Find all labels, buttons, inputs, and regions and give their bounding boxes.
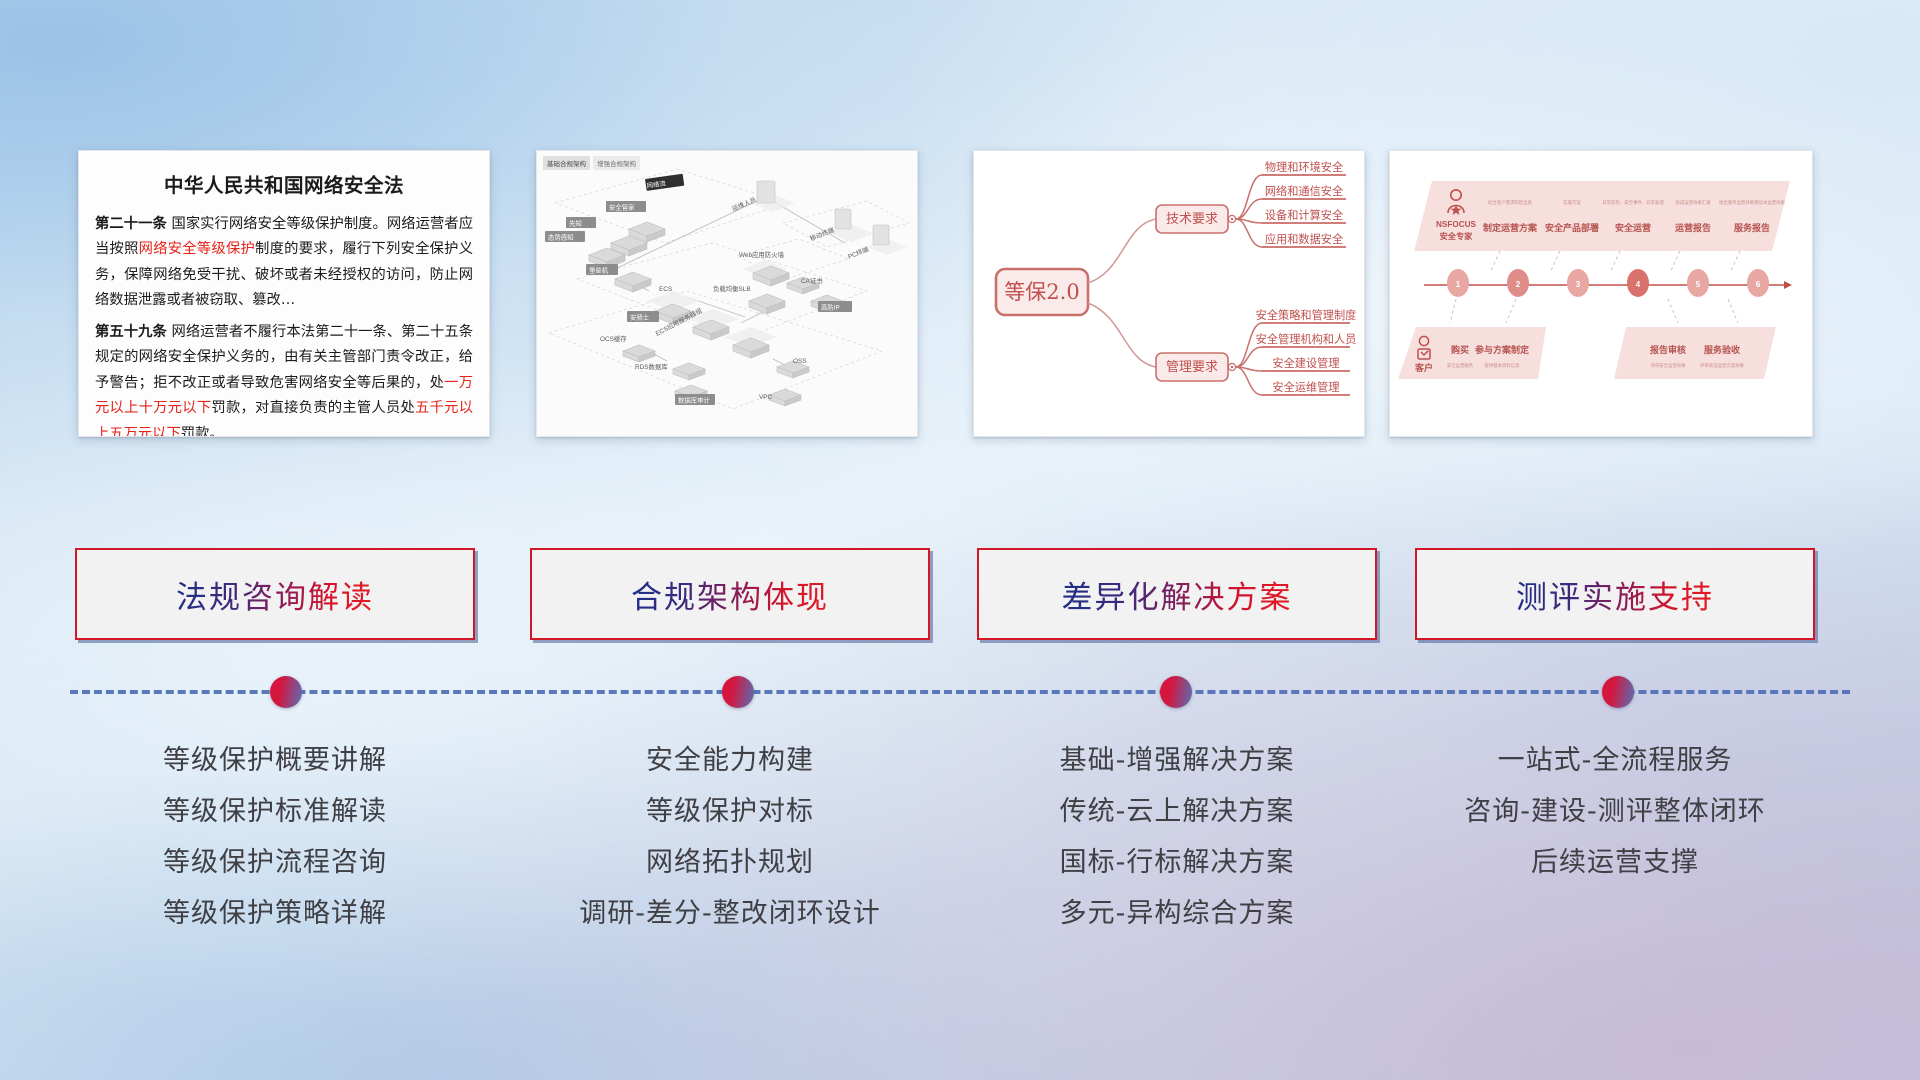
timeline-dot-1[interactable] <box>270 676 302 708</box>
card-service-roadmap[interactable]: NSFOCUS 安全专家 结合客户需求制定出具 制定运营方案 实施方案 安全产品… <box>1389 150 1813 437</box>
roadmap-bottom-title-4: 服务验收 <box>1704 344 1740 355</box>
roadmap-bottom-title-3: 报告审核 <box>1650 344 1686 355</box>
architecture-diagram: 基础合规架构 增强合规架构 <box>537 151 917 436</box>
article-59-number: 第五十九条 <box>95 324 167 340</box>
mindmap-leaf-mgmt-1: 安全策略和管理制度 <box>1256 308 1357 322</box>
svg-text:运维人员: 运维人员 <box>730 195 757 213</box>
card-mindmap-dengbao[interactable]: 等保2.0 技术要求 <box>973 150 1365 437</box>
svg-text:高防IP: 高防IP <box>821 303 840 312</box>
law-article-21: 第二十一条 国家实行网络安全等级保护制度。网络运营者应当按照网络安全等级保护制度… <box>95 212 473 314</box>
roadmap-step-numbers: 1 2 3 4 5 6 <box>1447 269 1769 297</box>
roadmap-brand-line1: NSFOCUS <box>1436 220 1477 229</box>
roadmap-num-2: 2 <box>1516 280 1521 289</box>
list-item: 一站式-全流程服务 <box>1415 735 1815 786</box>
card-compliance-architecture[interactable]: 基础合规架构 增强合规架构 <box>536 150 918 437</box>
svg-text:OSS: OSS <box>793 358 807 365</box>
detail-list-compliance-architecture: 安全能力构建 等级保护对标 网络拓扑规划 调研-差分-整改闭环设计 <box>530 735 930 939</box>
mindmap-branch-mgmt-label: 管理要求 <box>1166 360 1218 375</box>
list-item: 多元-异构综合方案 <box>977 888 1377 939</box>
roadmap-bottom-title-2: 参与方案制定 <box>1475 344 1530 355</box>
mindmap-root-label: 等保2.0 <box>1004 280 1079 304</box>
mindmap-leaf-mgmt-3: 安全建设管理 <box>1272 356 1339 370</box>
roadmap-top-sub-1: 结合客户需求制定出具 <box>1488 199 1533 206</box>
roadmap-bottom-banner-right <box>1614 327 1776 379</box>
section-heading-row: 法规咨询解读 合规架构体现 差异化解决方案 测评实施支持 <box>0 548 1920 644</box>
timeline-dot-2[interactable] <box>722 676 754 708</box>
svg-text:PC终端: PC终端 <box>846 244 870 261</box>
section-heading-label: 合规架构体现 <box>631 572 829 617</box>
mindmap: 等保2.0 技术要求 <box>974 151 1364 436</box>
mindmap-leaf-tech-1: 物理和环境安全 <box>1265 160 1343 174</box>
mindmap-leaf-tech-4: 应用和数据安全 <box>1265 232 1343 246</box>
roadmap-top-sub-2: 实施方案 <box>1563 199 1581 206</box>
roadmap-brand-line2: 安全专家 <box>1440 231 1474 241</box>
service-roadmap: NSFOCUS 安全专家 结合客户需求制定出具 制定运营方案 实施方案 安全产品… <box>1390 151 1812 436</box>
list-item: 安全能力构建 <box>530 735 930 786</box>
svg-text:ECS: ECS <box>659 286 672 293</box>
svg-text:CA证书: CA证书 <box>801 276 823 285</box>
architecture-canvas: 网络流 安全管家 先知 态势感知 堡垒机 安骑士 数据库审计 <box>537 151 917 436</box>
mindmap-branch-tech-label: 技术要求 <box>1166 212 1218 227</box>
list-item: 国标-行标解决方案 <box>977 837 1377 888</box>
detail-list-regulation-consulting: 等级保护概要讲解 等级保护标准解读 等级保护流程咨询 等级保护策略详解 <box>75 735 475 939</box>
roadmap-top-sub-3: 日常巡检、安全事件、异常处理 <box>1602 199 1664 206</box>
svg-text:先知: 先知 <box>569 219 582 228</box>
timeline <box>70 690 1850 694</box>
svg-text:数据库审计: 数据库审计 <box>678 396 711 405</box>
roadmap-arrow-head <box>1784 281 1792 289</box>
image-card-row: 中华人民共和国网络安全法 第二十一条 国家实行网络安全等级保护制度。网络运营者应… <box>0 150 1920 440</box>
timeline-dashed-line <box>70 690 1850 694</box>
svg-text:Web应用防火墙: Web应用防火墙 <box>739 250 785 259</box>
roadmap-num-1: 1 <box>1456 280 1461 289</box>
svg-text:RDS数据库: RDS数据库 <box>635 362 668 371</box>
mindmap-leaf-mgmt-4: 安全运维管理 <box>1272 380 1339 394</box>
list-item: 等级保护对标 <box>530 786 930 837</box>
section-heading-label: 差异化解决方案 <box>1062 572 1293 617</box>
roadmap-top-title-4: 运营报告 <box>1675 222 1711 233</box>
roadmap-top-title-1: 制定运营方案 <box>1483 222 1538 233</box>
roadmap-num-4: 4 <box>1636 280 1641 289</box>
law-document: 中华人民共和国网络安全法 第二十一条 国家实行网络安全等级保护制度。网络运营者应… <box>79 151 489 436</box>
svg-text:堡垒机: 堡垒机 <box>589 266 609 275</box>
roadmap-top-title-5: 服务报告 <box>1734 222 1770 233</box>
list-item: 调研-差分-整改闭环设计 <box>530 888 930 939</box>
timeline-dot-4[interactable] <box>1602 676 1634 708</box>
roadmap-bottom-title-1: 购买 <box>1451 344 1469 355</box>
list-item: 等级保护策略详解 <box>75 888 475 939</box>
mindmap-canvas: 等保2.0 技术要求 <box>974 151 1364 436</box>
section-heading-differentiated-solution[interactable]: 差异化解决方案 <box>977 548 1377 640</box>
mindmap-leaf-mgmt-2: 安全管理机构和人员 <box>1256 332 1357 346</box>
section-heading-assessment-support[interactable]: 测评实施支持 <box>1415 548 1815 640</box>
section-heading-label: 法规咨询解读 <box>176 572 374 617</box>
article-59-text-3: 罚款。 <box>181 426 224 438</box>
roadmap-bottom-sub-1: 安全运营服务 <box>1447 362 1474 369</box>
roadmap-num-5: 5 <box>1696 280 1701 289</box>
roadmap-bottom-sub-4: 评审验证运营方案效果 <box>1700 362 1745 369</box>
section-heading-label: 测评实施支持 <box>1516 572 1714 617</box>
svg-text:VPC: VPC <box>759 394 773 401</box>
list-item: 传统-云上解决方案 <box>977 786 1377 837</box>
article-59-text-2: 罚款，对直接负责的主管人员处 <box>211 400 415 416</box>
roadmap-bottom-sub-2: 提供基本资料信息 <box>1484 362 1520 369</box>
article-21-number: 第二十一条 <box>95 216 167 232</box>
law-title: 中华人民共和国网络安全法 <box>95 169 473 198</box>
list-item: 后续运营支撑 <box>1415 837 1815 888</box>
detail-list-assessment-support: 一站式-全流程服务 咨询-建设-测评整体闭环 后续运营支撑 <box>1415 735 1815 888</box>
roadmap-bottom-actor: 客户 <box>1414 362 1433 373</box>
mindmap-leaf-tech-2: 网络和通信安全 <box>1265 184 1343 198</box>
mindmap-leaf-tech-3: 设备和计算安全 <box>1265 208 1343 222</box>
list-item: 等级保护流程咨询 <box>75 837 475 888</box>
roadmap-top-title-3: 安全运营 <box>1615 222 1651 233</box>
list-item: 网络拓扑规划 <box>530 837 930 888</box>
roadmap-canvas: NSFOCUS 安全专家 结合客户需求制定出具 制定运营方案 实施方案 安全产品… <box>1390 151 1812 436</box>
list-item: 基础-增强解决方案 <box>977 735 1377 786</box>
roadmap-top-sub-4: 形成运营效果汇报 <box>1675 199 1711 206</box>
section-heading-compliance-architecture[interactable]: 合规架构体现 <box>530 548 930 640</box>
card-cybersecurity-law[interactable]: 中华人民共和国网络安全法 第二十一条 国家实行网络安全等级保护制度。网络运营者应… <box>78 150 490 437</box>
roadmap-top-title-2: 安全产品部署 <box>1545 222 1599 233</box>
section-heading-regulation-consulting[interactable]: 法规咨询解读 <box>75 548 475 640</box>
list-item: 等级保护概要讲解 <box>75 735 475 786</box>
list-item: 咨询-建设-测评整体闭环 <box>1415 786 1815 837</box>
roadmap-top-sub-5: 给出服务运营效果建议本运营效果 <box>1719 199 1785 206</box>
detail-list-differentiated-solution: 基础-增强解决方案 传统-云上解决方案 国标-行标解决方案 多元-异构综合方案 <box>977 735 1377 939</box>
svg-text:OCS缓存: OCS缓存 <box>600 334 627 343</box>
svg-text:态势感知: 态势感知 <box>548 233 574 242</box>
law-article-59: 第五十九条 网络运营者不履行本法第二十一条、第二十五条规定的网络安全保护义务的，… <box>95 320 473 437</box>
timeline-dot-3[interactable] <box>1160 676 1192 708</box>
section-detail-row: 等级保护概要讲解 等级保护标准解读 等级保护流程咨询 等级保护策略详解 安全能力… <box>0 735 1920 975</box>
roadmap-num-3: 3 <box>1576 280 1581 289</box>
svg-text:安全管家: 安全管家 <box>609 203 635 212</box>
svg-text:安骑士: 安骑士 <box>630 313 650 322</box>
article-21-highlight: 网络安全等级保护 <box>139 241 255 257</box>
roadmap-bottom-sub-3: 评审安全运营效果 <box>1650 362 1686 369</box>
roadmap-num-6: 6 <box>1756 280 1761 289</box>
svg-text:移动终端: 移动终端 <box>808 225 836 243</box>
list-item: 等级保护标准解读 <box>75 786 475 837</box>
svg-text:负载均衡SLB: 负载均衡SLB <box>713 284 751 293</box>
